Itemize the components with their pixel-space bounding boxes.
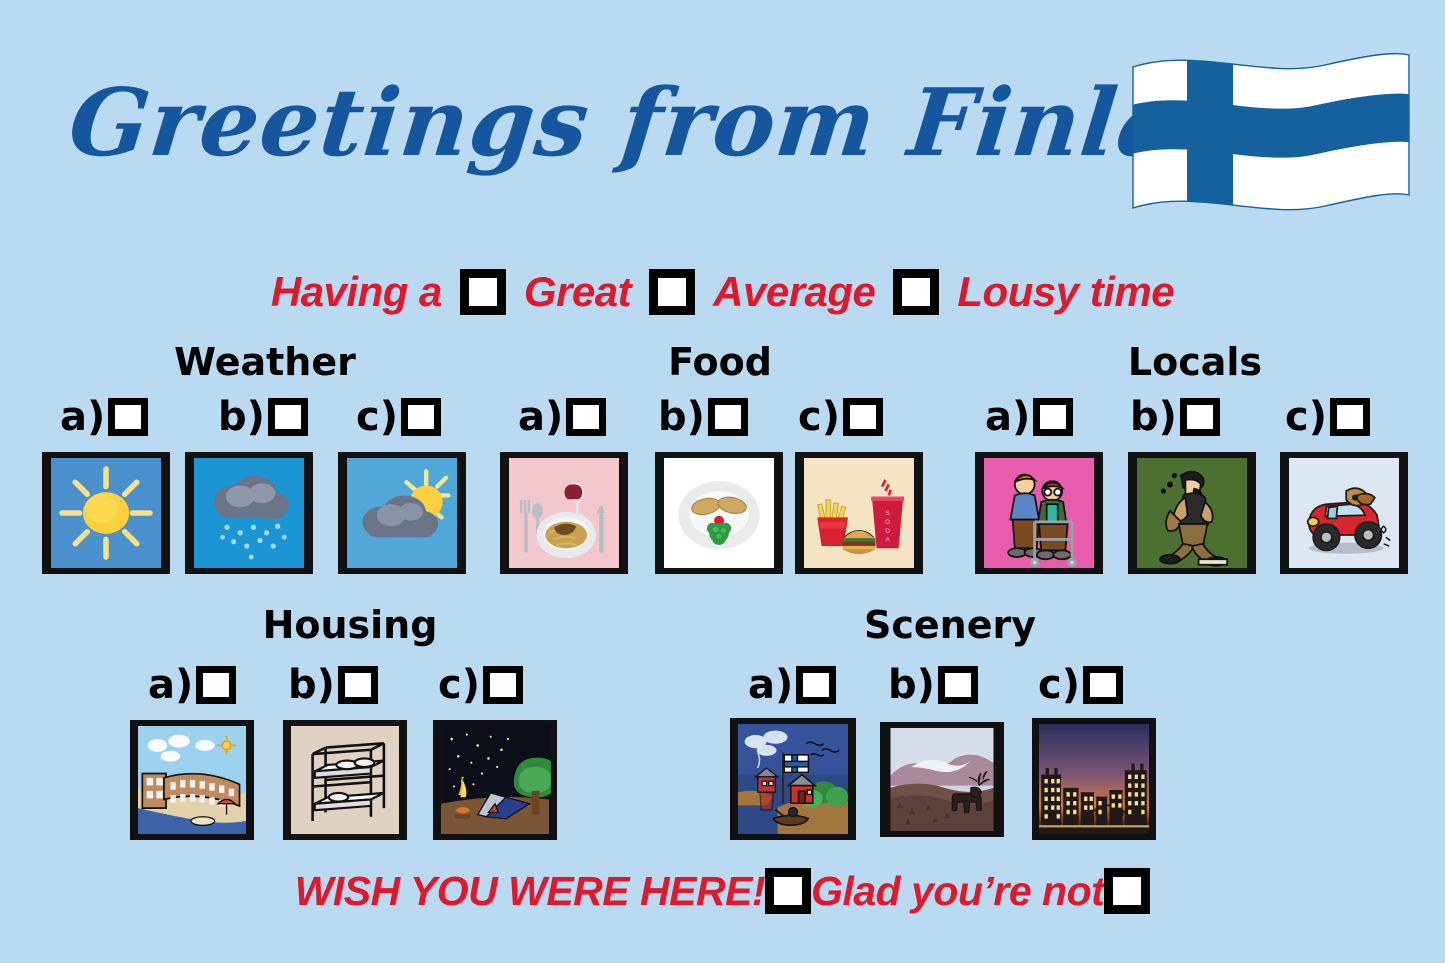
checkbox-mood-great[interactable] bbox=[460, 269, 506, 315]
finland-flag-icon bbox=[1125, 45, 1415, 220]
option-weather-c[interactable]: c) bbox=[356, 394, 441, 440]
checkbox-locals-a[interactable] bbox=[1033, 398, 1073, 436]
option-scenery-b[interactable]: b) bbox=[888, 662, 978, 708]
category-title-housing: Housing bbox=[205, 603, 495, 647]
checkbox-wish-you-were-here[interactable] bbox=[765, 868, 811, 914]
option-label-weather-c: c) bbox=[356, 394, 398, 440]
checkbox-locals-c[interactable] bbox=[1330, 398, 1370, 436]
closing-row: WISH YOU WERE HERE! Glad you’re not bbox=[0, 865, 1445, 917]
option-label-housing-a: a) bbox=[148, 662, 193, 708]
option-label-scenery-b: b) bbox=[888, 662, 935, 708]
option-label-food-c: c) bbox=[798, 394, 840, 440]
option-label-locals-b: b) bbox=[1130, 394, 1177, 440]
option-scenery-a[interactable]: a) bbox=[748, 662, 836, 708]
option-label-food-a: a) bbox=[518, 394, 563, 440]
category-title-weather: Weather bbox=[110, 340, 420, 384]
option-label-locals-a: a) bbox=[985, 394, 1030, 440]
picture-locals-b-rushing-man[interactable] bbox=[1128, 452, 1256, 574]
option-locals-a[interactable]: a) bbox=[985, 394, 1073, 440]
category-title-locals: Locals bbox=[1060, 340, 1330, 384]
option-housing-b[interactable]: b) bbox=[288, 662, 378, 708]
checkbox-scenery-b[interactable] bbox=[938, 666, 978, 704]
picture-scenery-a-lakeside-cottage[interactable] bbox=[730, 718, 856, 840]
option-label-scenery-c: c) bbox=[1038, 662, 1080, 708]
checkbox-mood-lousy[interactable] bbox=[893, 269, 939, 315]
checkbox-food-c[interactable] bbox=[843, 398, 883, 436]
option-food-a[interactable]: a) bbox=[518, 394, 606, 440]
postcard: Greetings from Finland Having a Great Av bbox=[0, 0, 1445, 963]
category-title-scenery: Scenery bbox=[805, 603, 1095, 647]
mood-option-average-label: Average bbox=[713, 268, 875, 316]
option-label-weather-b: b) bbox=[218, 394, 265, 440]
checkbox-food-b[interactable] bbox=[708, 398, 748, 436]
category-title-food: Food bbox=[575, 340, 865, 384]
checkbox-weather-a[interactable] bbox=[108, 398, 148, 436]
picture-housing-b-hostel-bunkbed[interactable] bbox=[283, 720, 407, 840]
glad-youre-not-label: Glad you’re not bbox=[811, 868, 1104, 915]
checkbox-scenery-c[interactable] bbox=[1083, 666, 1123, 704]
checkbox-food-a[interactable] bbox=[566, 398, 606, 436]
option-label-locals-c: c) bbox=[1285, 394, 1327, 440]
mood-option-lousy-label: Lousy time bbox=[957, 268, 1174, 316]
svg-text:D: D bbox=[885, 528, 890, 535]
picture-weather-a-sunny[interactable] bbox=[42, 452, 170, 574]
picture-weather-b-rainy[interactable] bbox=[185, 452, 313, 574]
checkbox-weather-c[interactable] bbox=[401, 398, 441, 436]
svg-text:O: O bbox=[885, 519, 890, 526]
option-label-scenery-a: a) bbox=[748, 662, 793, 708]
checkbox-locals-b[interactable] bbox=[1180, 398, 1220, 436]
option-locals-b[interactable]: b) bbox=[1130, 394, 1220, 440]
mood-option-great-label: Great bbox=[524, 268, 631, 316]
picture-housing-a-hotel[interactable] bbox=[130, 720, 254, 840]
checkbox-housing-b[interactable] bbox=[338, 666, 378, 704]
picture-housing-c-camping-tent[interactable] bbox=[433, 720, 557, 840]
picture-food-b-potatoes-broccoli[interactable] bbox=[655, 452, 783, 574]
mood-prefix-label: Having a bbox=[271, 268, 442, 316]
mood-row: Having a Great Average Lousy time bbox=[0, 266, 1445, 318]
option-weather-b[interactable]: b) bbox=[218, 394, 308, 440]
wish-you-were-here-label: WISH YOU WERE HERE! bbox=[295, 868, 765, 915]
checkbox-scenery-a[interactable] bbox=[796, 666, 836, 704]
option-food-c[interactable]: c) bbox=[798, 394, 883, 440]
option-label-weather-a: a) bbox=[60, 394, 105, 440]
checkbox-mood-average[interactable] bbox=[649, 269, 695, 315]
option-label-food-b: b) bbox=[658, 394, 705, 440]
checkbox-glad-youre-not[interactable] bbox=[1104, 868, 1150, 914]
picture-scenery-c-city-skyline[interactable] bbox=[1032, 718, 1156, 840]
checkbox-weather-b[interactable] bbox=[268, 398, 308, 436]
picture-food-a-fine-dining[interactable] bbox=[500, 452, 628, 574]
option-scenery-c[interactable]: c) bbox=[1038, 662, 1123, 708]
option-label-housing-b: b) bbox=[288, 662, 335, 708]
option-housing-a[interactable]: a) bbox=[148, 662, 236, 708]
picture-food-c-fast-food[interactable]: S O D A bbox=[795, 452, 923, 574]
soda-cup-caption: S bbox=[885, 510, 890, 517]
checkbox-housing-c[interactable] bbox=[483, 666, 523, 704]
option-label-housing-c: c) bbox=[438, 662, 480, 708]
option-weather-a[interactable]: a) bbox=[60, 394, 148, 440]
svg-text:A: A bbox=[885, 537, 890, 544]
option-food-b[interactable]: b) bbox=[658, 394, 748, 440]
picture-scenery-b-lapland-reindeer[interactable] bbox=[880, 722, 1004, 837]
picture-locals-c-reckless-driver[interactable] bbox=[1280, 452, 1408, 574]
checkbox-housing-a[interactable] bbox=[196, 666, 236, 704]
picture-weather-c-partly-cloudy[interactable] bbox=[338, 452, 466, 574]
option-locals-c[interactable]: c) bbox=[1285, 394, 1370, 440]
option-housing-c[interactable]: c) bbox=[438, 662, 523, 708]
picture-locals-a-helpful[interactable] bbox=[975, 452, 1103, 574]
